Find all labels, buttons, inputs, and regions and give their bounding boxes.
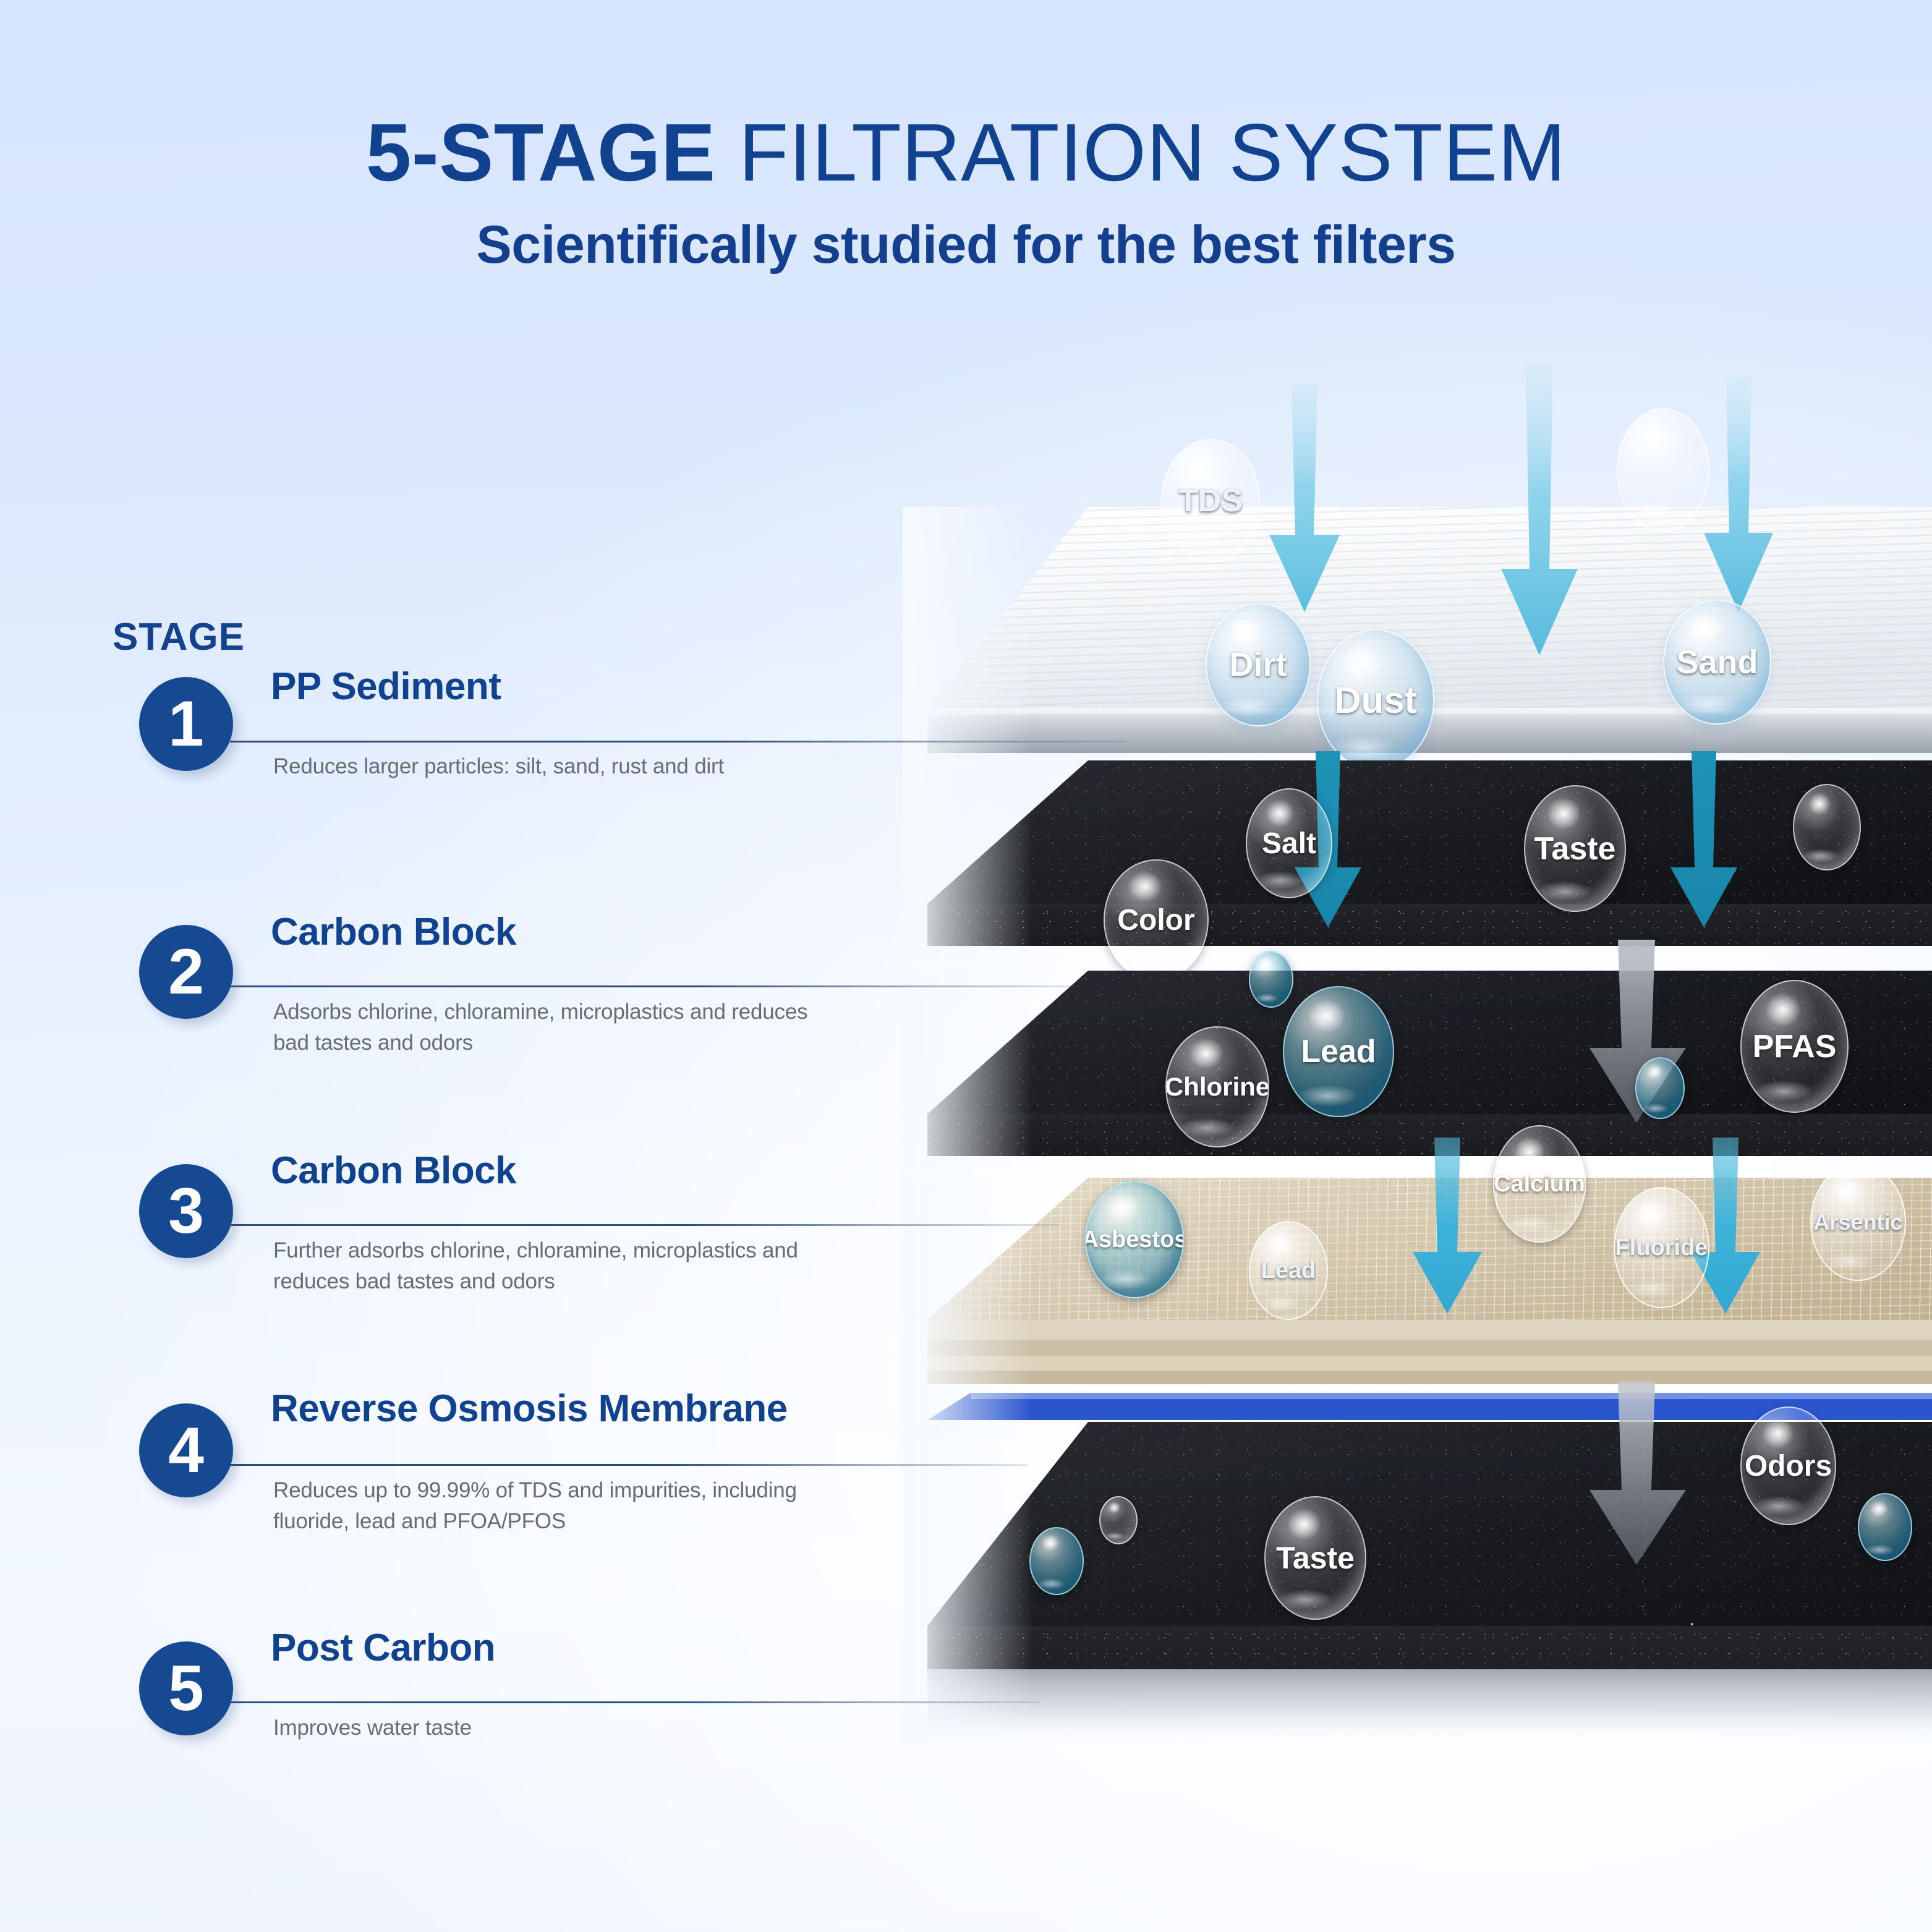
bubble-label: TDS <box>1178 482 1243 519</box>
bubble-label: PFAS <box>1753 1028 1837 1065</box>
bubble-label: Calcium <box>1494 1171 1585 1198</box>
stage-badge-2[interactable]: 2 <box>139 925 233 1019</box>
bubble-tds: TDS <box>1161 439 1260 563</box>
bubble-taste-post: Taste <box>1264 1496 1366 1620</box>
bubble-chlorine: Chlorine <box>1165 1026 1269 1147</box>
stage-desc-2: Adsorbs chlorine, chloramine, microplast… <box>273 997 842 1058</box>
stage-title-3: Carbon Block <box>271 1149 516 1193</box>
stage-desc-1: Reduces larger particles: silt, sand, ru… <box>273 751 892 782</box>
bubble-lead-4: Lead <box>1249 1221 1328 1320</box>
inflow-arrow-3 <box>1700 377 1777 618</box>
header: 5-STAGE FILTRATION SYSTEM Scientifically… <box>0 110 1932 276</box>
stage-leader-line-2 <box>230 985 1083 987</box>
bubble-label: Asbestos <box>1085 1227 1184 1253</box>
bubble-label: Lead <box>1261 1258 1316 1284</box>
inflow-arrow-1 <box>1264 383 1345 618</box>
stage-desc-3: Further adsorbs chlorine, chloramine, mi… <box>273 1235 867 1296</box>
bubble-blank-3b <box>1249 951 1293 1008</box>
bubble-asbestos: Asbestos <box>1085 1181 1184 1298</box>
stage-number: 3 <box>168 1179 204 1243</box>
stage-number: 2 <box>168 940 204 1004</box>
bubble-label: Salt <box>1262 827 1316 861</box>
stage-badge-3[interactable]: 3 <box>139 1164 233 1258</box>
stage-title-5: Post Carbon <box>271 1626 495 1670</box>
bubble-label: Sand <box>1676 643 1758 681</box>
bubble-label: Lead <box>1301 1033 1376 1070</box>
stage-badge-1[interactable]: 1 <box>139 677 233 771</box>
bubble-taste-2: Taste <box>1524 785 1626 912</box>
bubble-color: Color <box>1104 859 1209 981</box>
stage-badge-4[interactable]: 4 <box>139 1403 233 1497</box>
bubble-label: Dirt <box>1230 645 1287 684</box>
bubble-fluoride: Fluoride <box>1614 1187 1709 1308</box>
stage-leader-line-1 <box>230 741 1126 743</box>
stage-row-5[interactable]: 5 Post Carbon Improves water taste <box>0 0 1932 1</box>
stage-title-4: Reverse Osmosis Membrane <box>271 1387 788 1431</box>
flow-arrow-teal-2 <box>1668 751 1742 930</box>
bubble-sand: Sand <box>1663 600 1771 725</box>
stage-title-2: Carbon Block <box>271 910 516 954</box>
bubble-taste-5 <box>1691 1623 1693 1625</box>
bubble-dirt: Dirt <box>1206 603 1311 726</box>
bubble-blank-3 <box>1635 1057 1685 1119</box>
stage-leader-line-4 <box>230 1464 1028 1466</box>
bubble-calcium: Calcium <box>1493 1125 1586 1243</box>
bubble-label: Odors <box>1745 1449 1832 1483</box>
bubble-salt: Salt <box>1246 788 1332 898</box>
page-subtitle: Scientifically studied for the best filt… <box>0 215 1932 276</box>
flow-arrow-cyan-4a <box>1410 1138 1487 1317</box>
bubble-blank-5a <box>1029 1527 1084 1595</box>
carbon-block-layer-1 <box>903 760 1932 964</box>
bubble-label: Dust <box>1334 679 1416 721</box>
stage-heading-label: STAGE <box>113 615 245 659</box>
bubble-odors: Odors <box>1740 1406 1836 1525</box>
stage-number: 1 <box>168 692 204 756</box>
title-light-part: FILTRATION SYSTEM <box>716 107 1567 198</box>
stage-leader-line-3 <box>230 1224 1058 1226</box>
stage-number: 4 <box>168 1418 204 1483</box>
stage-desc-4: Reduces up to 99.99% of TDS and impuriti… <box>273 1475 817 1536</box>
filtration-stack-illustration: TDS Dirt Dust Sand <box>903 507 1932 1904</box>
bubble-label: Fluoride <box>1615 1235 1708 1261</box>
bubble-blank-1 <box>1617 408 1709 532</box>
bubble-blank-5b <box>1099 1496 1138 1544</box>
stage-badge-5[interactable]: 5 <box>139 1641 233 1735</box>
inflow-arrow-2 <box>1496 365 1583 662</box>
bubble-label: Taste <box>1276 1540 1355 1576</box>
page-title: 5-STAGE FILTRATION SYSTEM <box>0 110 1932 196</box>
stage-title-1: PP Sediment <box>271 665 501 709</box>
bubble-label: Taste <box>1534 830 1616 867</box>
title-bold-part: 5-STAGE <box>366 107 716 198</box>
bubble-arsentic: Arsentic <box>1810 1164 1906 1281</box>
stage-number: 5 <box>168 1656 204 1721</box>
bubble-label: Arsentic <box>1813 1209 1902 1235</box>
stage-desc-5: Improves water taste <box>273 1713 768 1743</box>
bubble-lead-3: Lead <box>1283 986 1394 1117</box>
bubble-label: Chlorine <box>1165 1072 1269 1102</box>
bubble-pfas: PFAS <box>1740 980 1849 1113</box>
bubble-dust: Dust <box>1317 629 1434 770</box>
stage-leader-line-5 <box>230 1701 1040 1703</box>
flow-arrow-gray-2 <box>1586 1382 1691 1567</box>
bubble-label: Color <box>1117 903 1194 937</box>
bubble-blank-5c <box>1858 1493 1912 1561</box>
bubble-blank-2 <box>1793 784 1861 870</box>
